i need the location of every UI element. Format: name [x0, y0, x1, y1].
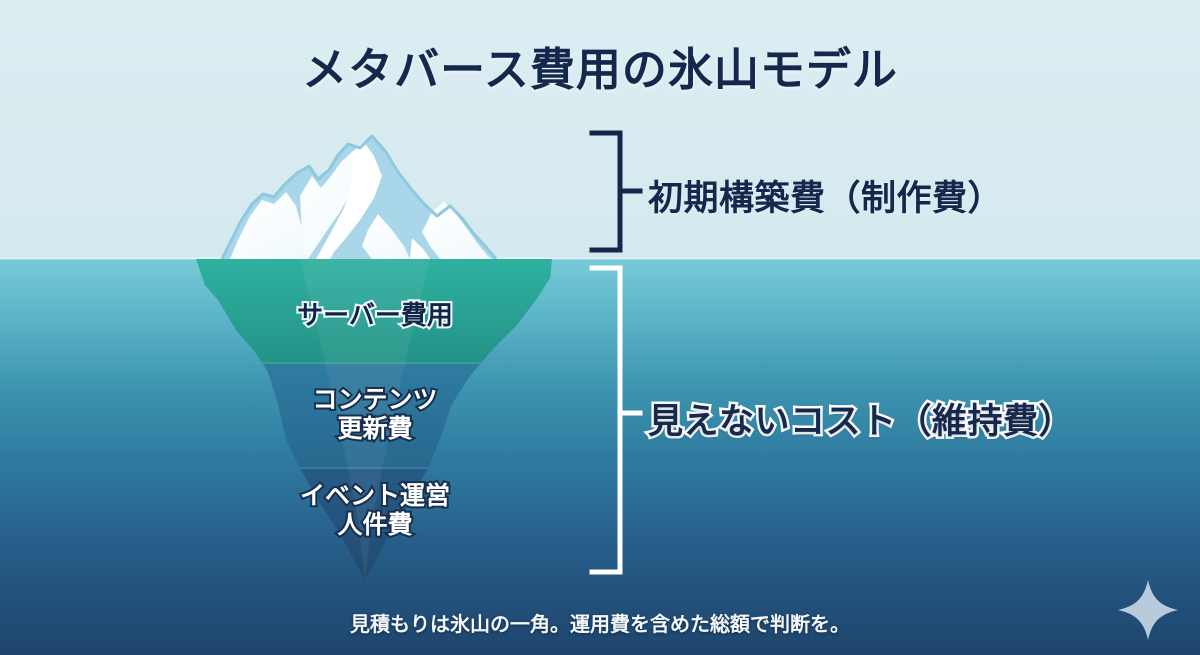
- iceberg-tip-above-water: [222, 136, 496, 259]
- hidden-cost-bracket: [592, 268, 640, 572]
- label-hidden-cost: 見えないコスト（維持費）: [648, 393, 1074, 444]
- iceberg-band-label-server-cost: サーバー費用: [195, 300, 555, 330]
- iceberg-illustration: [0, 0, 1200, 655]
- iceberg-band-label-content-update-cost: コンテンツ 更新費: [195, 386, 555, 444]
- initial-cost-bracket: [592, 133, 640, 250]
- infographic-canvas: メタバース費用の氷山モデル 初期構築費（制作費） 見えないコスト（維持費） サー…: [0, 0, 1200, 655]
- footer-caption: 見積もりは氷山の一角。運用費を含めた総額で判断を。: [0, 608, 1200, 637]
- label-initial-cost: 初期構築費（制作費）: [648, 170, 1003, 221]
- iceberg-band-label-event-staff-cost: イベント運営 人件費: [195, 482, 555, 540]
- page-title: メタバース費用の氷山モデル: [0, 33, 1200, 98]
